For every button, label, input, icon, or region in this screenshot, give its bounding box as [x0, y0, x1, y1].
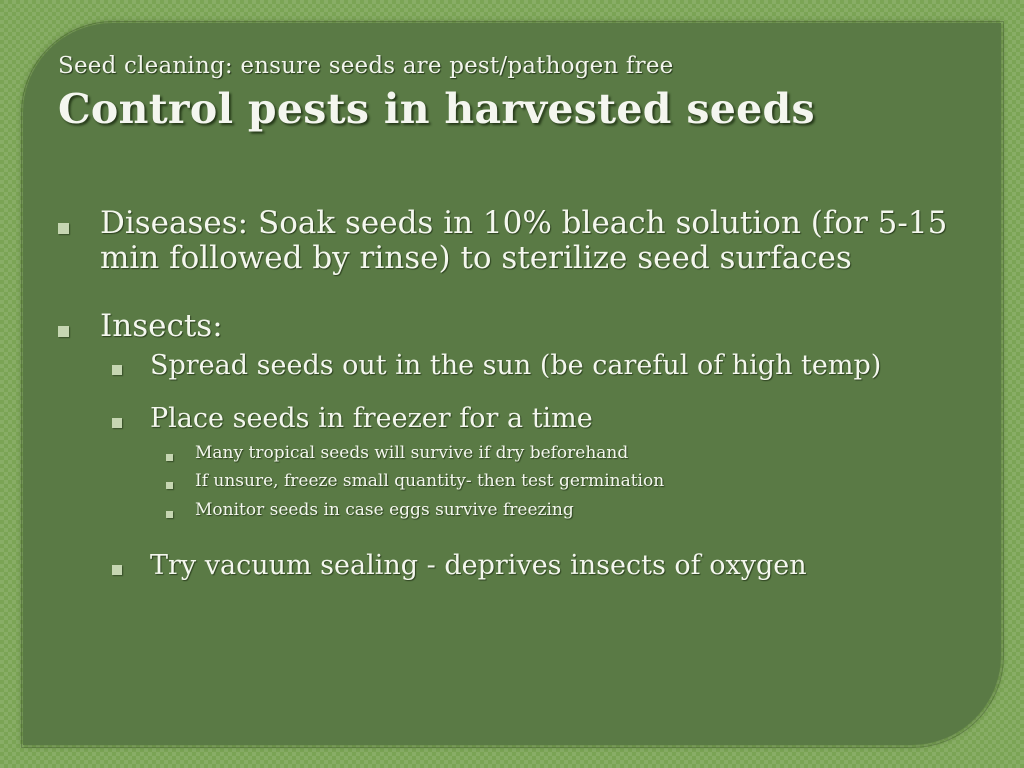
square-bullet-icon: [112, 365, 122, 375]
bullet-item-freeze-small-quantity: If unsure, freeze small quantity- then t…: [166, 472, 968, 492]
spacer: [58, 520, 968, 551]
bullet-text: Insects:: [100, 309, 223, 344]
bullet-item-insects: Insects:: [58, 309, 968, 344]
bullet-text: Spread seeds out in the sun (be careful …: [150, 351, 881, 382]
slide-title-block: Seed cleaning: ensure seeds are pest/pat…: [58, 53, 958, 133]
spacer: [58, 278, 968, 309]
square-bullet-icon: [166, 482, 173, 489]
bullet-item-tropical-seeds-dry: Many tropical seeds will survive if dry …: [166, 444, 968, 464]
square-bullet-icon: [166, 454, 173, 461]
slide-subtitle: Seed cleaning: ensure seeds are pest/pat…: [58, 53, 958, 79]
square-bullet-icon: [112, 418, 122, 428]
bullet-item-monitor-eggs: Monitor seeds in case eggs survive freez…: [166, 501, 968, 521]
spacer: [58, 382, 968, 404]
bullet-item-freezer: Place seeds in freezer for a time: [112, 404, 968, 435]
square-bullet-icon: [166, 511, 173, 518]
presentation-slide: Seed cleaning: ensure seeds are pest/pat…: [0, 0, 1024, 768]
bullet-text: Monitor seeds in case eggs survive freez…: [195, 501, 574, 521]
bullet-text: Many tropical seeds will survive if dry …: [195, 444, 628, 464]
slide-title: Control pests in harvested seeds: [58, 85, 958, 133]
square-bullet-icon: [58, 326, 69, 337]
bullet-item-diseases: Diseases: Soak seeds in 10% bleach solut…: [58, 206, 968, 276]
bullet-text: Diseases: Soak seeds in 10% bleach solut…: [100, 206, 968, 276]
bullet-text: Try vacuum sealing - deprives insects of…: [150, 551, 807, 582]
square-bullet-icon: [112, 565, 122, 575]
bullet-item-spread-seeds-sun: Spread seeds out in the sun (be careful …: [112, 351, 968, 382]
square-bullet-icon: [58, 223, 69, 234]
bullet-item-vacuum-sealing: Try vacuum sealing - deprives insects of…: [112, 551, 968, 582]
bullet-text: If unsure, freeze small quantity- then t…: [195, 472, 664, 492]
slide-bullet-list: Diseases: Soak seeds in 10% bleach solut…: [58, 206, 968, 582]
bullet-text: Place seeds in freezer for a time: [150, 404, 593, 435]
